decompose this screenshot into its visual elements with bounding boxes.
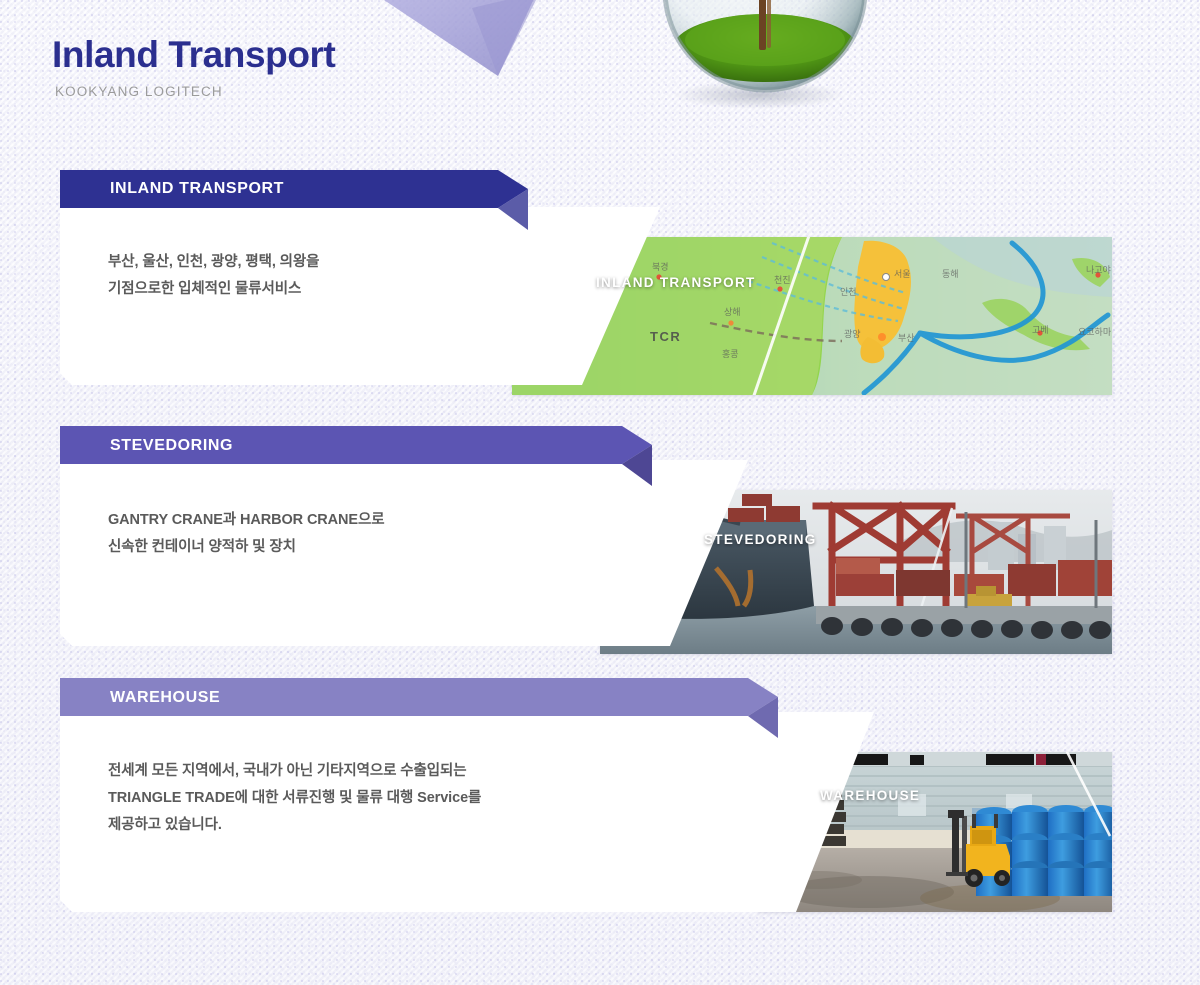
card-header-label-warehouse: WAREHOUSE <box>110 689 220 707</box>
service-card-inland-transport[interactable]: 북경 천진 상해 홍콩 인천 서울 광양 부산 동해 고베 요코하마 나고야 T… <box>0 0 1200 260</box>
svg-text:TCR: TCR <box>650 329 681 344</box>
svg-text:인천: 인천 <box>840 287 857 298</box>
svg-text:홍콩: 홍콩 <box>722 348 739 360</box>
svg-text:부산: 부산 <box>898 333 915 344</box>
svg-text:고베: 고베 <box>1032 325 1049 336</box>
svg-text:광양: 광양 <box>844 328 861 340</box>
svg-text:요코하마: 요코하마 <box>1078 327 1112 338</box>
photo-label-inland-transport: INLAND TRANSPORT <box>596 275 756 290</box>
card-header-label-inland-transport: INLAND TRANSPORT <box>110 180 284 198</box>
card-header-label-stevedoring: STEVEDORING <box>110 437 233 455</box>
svg-text:상해: 상해 <box>724 307 741 318</box>
card-header-ribbon-inland-transport <box>0 0 1200 260</box>
